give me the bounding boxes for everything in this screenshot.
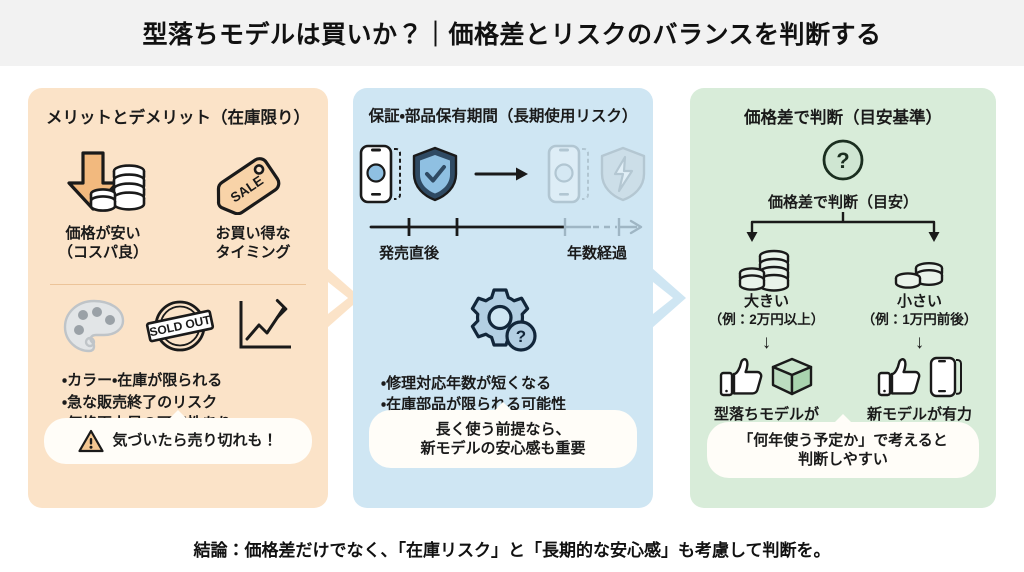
timeline-axis (353, 214, 653, 238)
warranty-callout-text: 長く使う前提なら、 新モデルの安心感も重要 (420, 420, 585, 459)
price-rising-chart-icon (233, 297, 295, 360)
price-branch-large-arrow: ↓ (690, 333, 843, 352)
sold-out-stamp-icon: SOLD OUT (143, 297, 217, 360)
panel-warranty-heading: 保証・部品保有期間（長期使用リスク） (353, 104, 653, 126)
merit-bottom-icons: SOLD OUT (28, 297, 328, 360)
svg-text:?: ? (516, 327, 526, 346)
price-question-label: 価格差で判断（目安） (690, 193, 996, 212)
phone-icon (929, 356, 963, 403)
page-title: 型落ちモデルは買いか？｜価格差とリスクのバランスを判断する (142, 15, 881, 51)
price-branch-large-label: 大きい (690, 292, 843, 311)
price-branch-large: 大きい （例：2万円以上） ↓ (690, 248, 843, 443)
warning-triangle-icon (78, 429, 104, 453)
price-branch-small-arrow: ↓ (843, 333, 996, 352)
footer-bar: 結論：価格差だけでなく、「在庫リスク」と「長期的な安心感」も考慮して判断を。 (0, 524, 1024, 572)
warranty-bullet-1: ・修理対応年数が短くなる (381, 373, 653, 394)
title-bar: 型落ちモデルは買いか？｜価格差とリスクのバランスを判断する (0, 0, 1024, 66)
price-branch-large-example: （例：2万円以上） (690, 311, 843, 328)
price-branch-small-example: （例：1万円前後） (843, 311, 996, 328)
shield-broken-icon (598, 145, 648, 208)
price-callout: 「何年使う予定か」で考えると 判断しやすい (707, 422, 979, 478)
price-question-row: ? (690, 138, 996, 187)
warranty-center-icon-row: ? (353, 286, 653, 361)
merit-bullet-1: ・カラー・在庫が限られる (62, 370, 328, 391)
footer-conclusion: 結論：価格差だけでなく、「在庫リスク」と「長期的な安心感」も考慮して判断を。 (194, 536, 831, 561)
timeline-labels: 発売直後 年数経過 (353, 242, 653, 263)
price-branch-small: 小さい （例：1万円前後） ↓ (843, 248, 996, 443)
question-circle-icon: ? (821, 138, 865, 187)
arrow-right-icon (474, 164, 532, 189)
panel-merit-heading: メリットとデメリット（在庫限り） (28, 104, 328, 128)
timeline-icons (353, 140, 653, 212)
price-callout-text: 「何年使う予定か」で考えると 判断しやすい (738, 431, 948, 470)
timeline-start-label: 発売直後 (379, 242, 439, 263)
coins-tall-icon (690, 248, 843, 292)
price-callout-tail (834, 414, 852, 423)
shield-check-icon (410, 145, 460, 208)
merit-callout-tail (169, 410, 187, 419)
phone-icon (358, 143, 402, 210)
warranty-callout: 長く使う前提なら、 新モデルの安心感も重要 (369, 410, 637, 468)
merit-item-cheap: 価格が安い （コスパ良） (28, 146, 178, 262)
panel-merit-demerit: メリットとデメリット（在庫限り） (28, 88, 328, 508)
merit-bullet-2: ・急な販売終了のリスク (62, 392, 328, 413)
price-branch-small-label: 小さい (843, 292, 996, 311)
price-branch-small-icons (843, 356, 996, 403)
phone-faded-icon (546, 143, 590, 210)
svg-text:?: ? (836, 148, 849, 173)
price-down-coins-icon (28, 146, 178, 218)
merit-top-items: 価格が安い （コスパ良） SALE お買い得な タイミング (28, 146, 328, 262)
sale-tag-icon: SALE (178, 146, 328, 218)
panel-warranty-parts: 保証・部品保有期間（長期使用リスク） (353, 88, 653, 508)
merit-callout: 気づいたら売り切れも！ (44, 418, 312, 464)
thumbs-up-icon (719, 356, 765, 403)
panel-price-decision: 価格差で判断（目安基準） ? 価格差で判断（目安） (690, 88, 996, 508)
branch-connector (690, 212, 996, 246)
merit-caption-cheap: 価格が安い （コスパ良） (28, 224, 178, 262)
warranty-callout-tail (494, 402, 512, 411)
gear-question-icon: ? (464, 286, 542, 361)
price-branch-large-icons (690, 356, 843, 403)
connector-arrow-2 (652, 268, 686, 328)
thumbs-up-icon (877, 356, 923, 403)
merit-item-timing: SALE お買い得な タイミング (178, 146, 328, 262)
merit-caption-timing: お買い得な タイミング (178, 224, 328, 262)
color-palette-icon (61, 297, 127, 360)
merit-divider (50, 284, 306, 285)
warranty-timeline: 発売直後 年数経過 (353, 140, 653, 260)
coins-short-icon (843, 248, 996, 292)
timeline-end-label: 年数経過 (567, 242, 627, 263)
panel-price-heading: 価格差で判断（目安基準） (690, 104, 996, 128)
box-icon (769, 356, 815, 403)
merit-callout-text: 気づいたら売り切れも！ (112, 431, 277, 451)
